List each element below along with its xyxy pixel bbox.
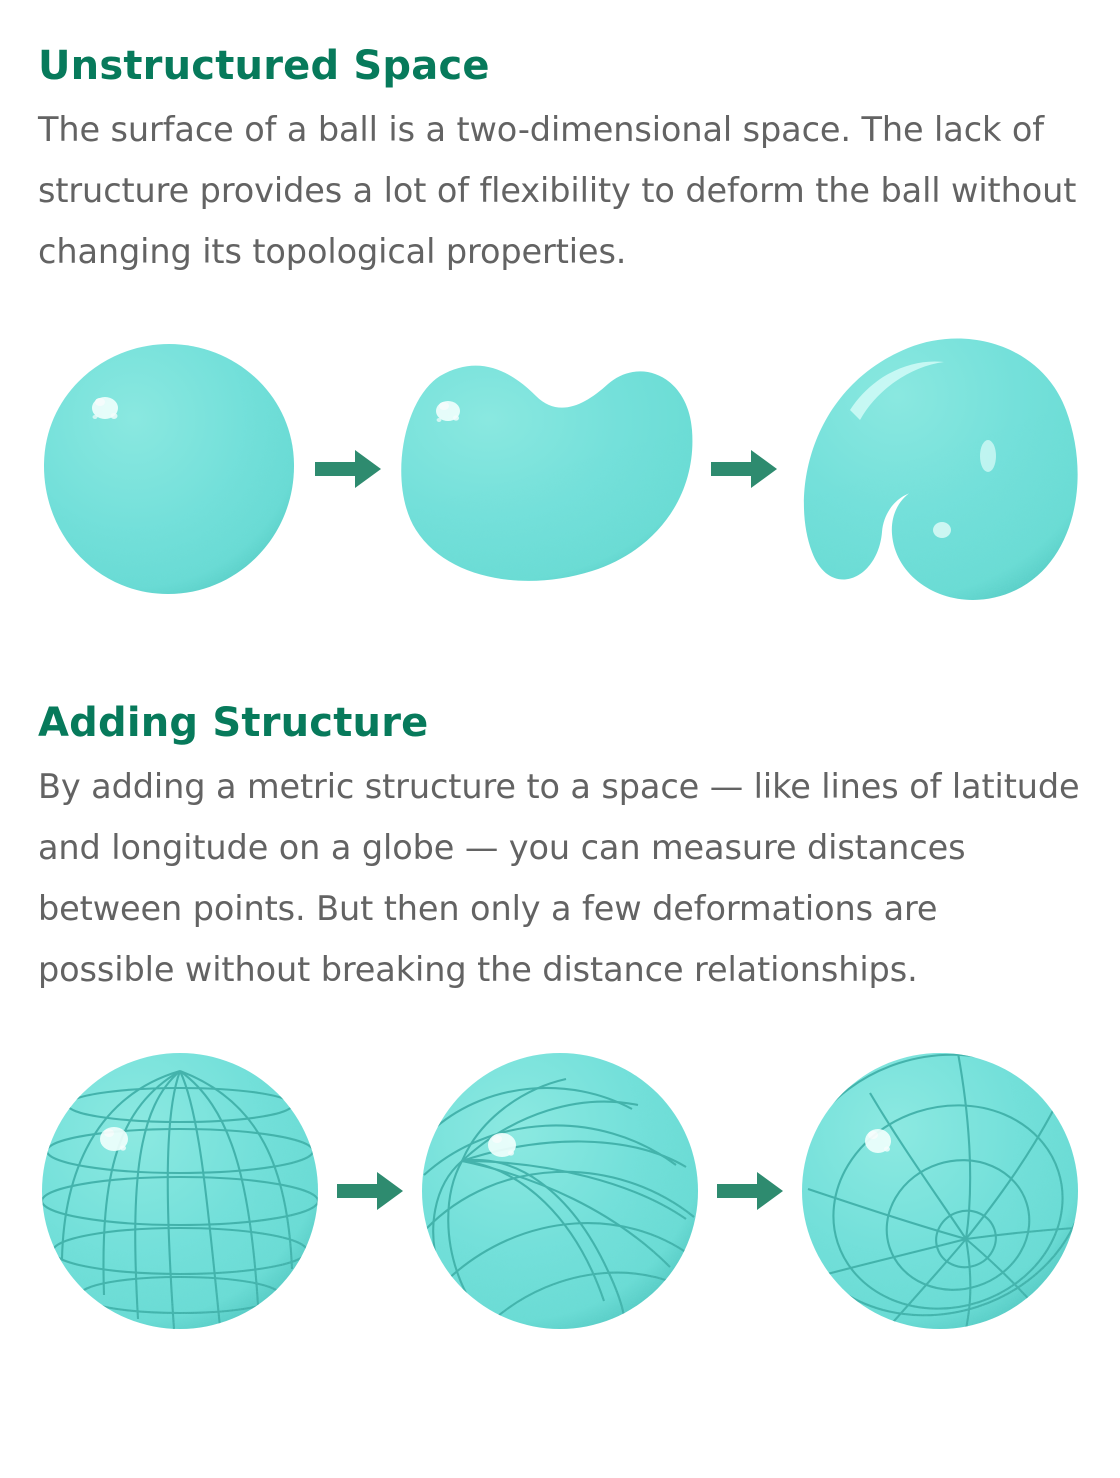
rotation-sequence-figure — [38, 1041, 1082, 1341]
globe-shape-pole-upper-left — [418, 1049, 702, 1333]
infographic-page: Unstructured Space The surface of a ball… — [0, 0, 1120, 1478]
section-adding-structure: Adding Structure By adding a metric stru… — [38, 679, 1082, 1341]
section-body-unstructured-space: The surface of a ball is a two-dimension… — [38, 86, 1082, 283]
figure-step-globe-pole-top — [38, 1049, 322, 1333]
arrow-connector-2 — [698, 448, 790, 490]
specular-highlight-icon — [488, 1133, 516, 1157]
specular-highlight-icon — [865, 1129, 891, 1153]
figure-step-bean — [396, 354, 696, 584]
section-unstructured-space: Unstructured Space The surface of a ball… — [38, 0, 1082, 619]
globe-shape-pole-front — [798, 1049, 1082, 1333]
specular-highlight-icon — [100, 1127, 128, 1151]
deformation-sequence-figure — [38, 319, 1082, 619]
globe-shape-pole-top — [38, 1049, 322, 1333]
arrow-right-icon — [315, 448, 381, 490]
arrow-connector-1 — [302, 448, 394, 490]
arrow-connector-4 — [704, 1170, 796, 1212]
specular-highlight-icon — [92, 397, 118, 419]
arrow-right-icon — [337, 1170, 403, 1212]
horseshoe-shape — [792, 334, 1082, 604]
arrow-right-icon — [711, 448, 777, 490]
bean-shape — [396, 354, 696, 584]
arrow-connector-3 — [324, 1170, 416, 1212]
section-heading-adding-structure: Adding Structure — [38, 679, 1082, 743]
arrow-right-icon — [717, 1170, 783, 1212]
section-heading-unstructured-space: Unstructured Space — [38, 0, 1082, 86]
figure-step-ball — [38, 338, 300, 600]
figure-step-globe-pole-upper-left — [418, 1049, 702, 1333]
figure-step-globe-pole-front — [798, 1049, 1082, 1333]
ball-shape — [38, 338, 300, 600]
specular-highlight-icon — [436, 401, 460, 422]
figure-step-horseshoe — [792, 334, 1082, 604]
section-body-adding-structure: By adding a metric structure to a space … — [38, 743, 1082, 1001]
